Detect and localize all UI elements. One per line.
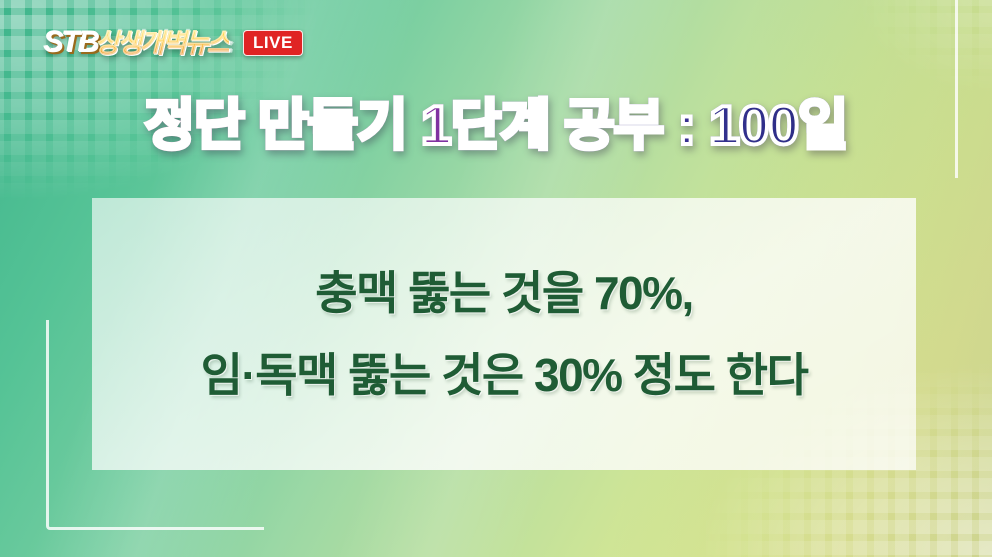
channel-logo: STB 상생개벽뉴스 — [44, 28, 229, 58]
caption-panel: 충맥 뚫는 것을 70%, 임·독맥 뚫는 것은 30% 정도 한다 — [92, 198, 916, 470]
live-badge: LIVE — [243, 30, 303, 57]
headline: 정단 만들기 1단계 공부 : 100일 — [0, 96, 992, 155]
channel-logo-mark: STB — [44, 28, 98, 58]
broadcast-frame: STB 상생개벽뉴스 LIVE 정단 만들기 1단계 공부 : 100일 충맥 … — [0, 0, 992, 557]
caption-line-2: 임·독맥 뚫는 것은 30% 정도 한다 — [201, 351, 808, 399]
channel-header: STB 상생개벽뉴스 LIVE — [44, 25, 303, 61]
channel-logo-name: 상생개벽뉴스 — [95, 30, 229, 57]
headline-text: 정단 만들기 1단계 공부 : 100일 — [144, 94, 847, 156]
caption-line-1: 충맥 뚫는 것을 70%, — [315, 269, 693, 317]
